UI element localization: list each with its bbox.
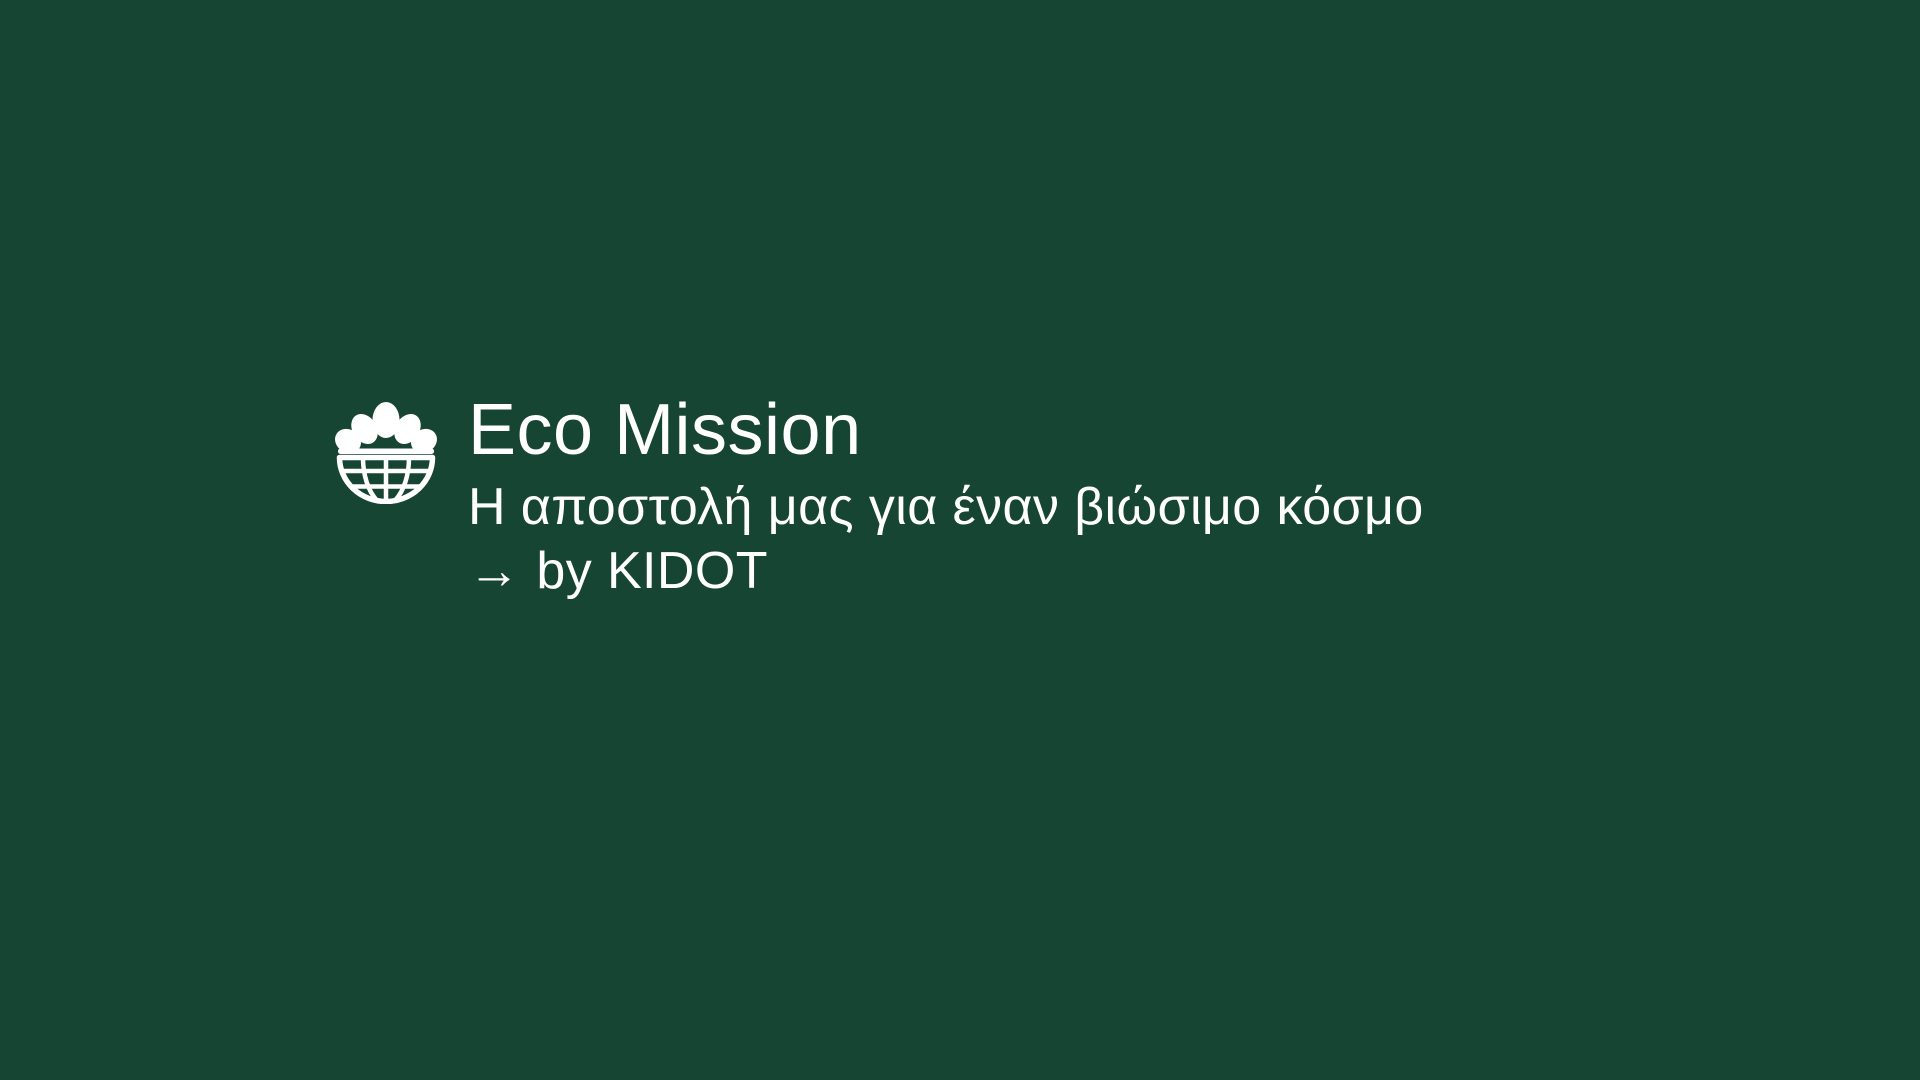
arrow-right-icon: → [468,545,520,597]
page-title: Eco Mission [468,394,1424,466]
page-subtitle: Η αποστολή μας για έναν βιώσιμο κόσμο [468,478,1424,536]
slide-canvas: Eco Mission Η αποστολή μας για έναν βιώσ… [0,0,1920,1080]
byline-label: by KIDOT [536,542,767,600]
byline: → by KIDOT [468,542,1424,600]
brand-block: Eco Mission Η αποστολή μας για έναν βιώσ… [332,392,1424,600]
brand-text-column: Eco Mission Η αποστολή μας για έναν βιώσ… [468,392,1424,600]
globe-with-leaves-icon [332,396,440,504]
